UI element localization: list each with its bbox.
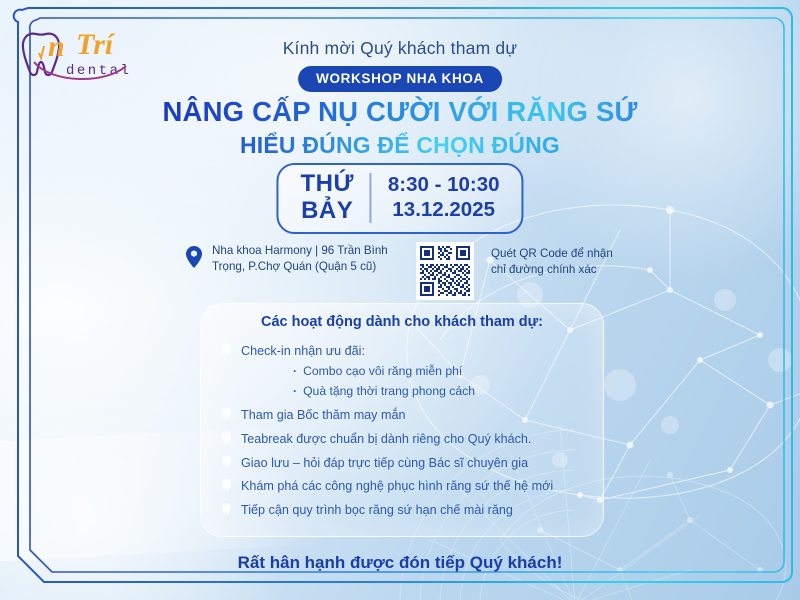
page-title: NÂNG CẤP NỤ CƯỜI VỚI RĂNG SỨ HIỂU ĐÚNG Đ…: [130, 96, 670, 160]
tooth-bullet-icon: [221, 408, 232, 421]
schedule-when: 8:30 - 10:30 13.12.2025: [388, 173, 500, 222]
list-item: Teabreak được chuẩn bị dành riêng cho Qu…: [217, 430, 593, 448]
list-item: Giao lưu – hỏi đáp trực tiếp cùng Bác sĩ…: [217, 454, 593, 472]
list-item-label: Tham gia Bốc thăm may mắn: [241, 408, 405, 422]
schedule-date: 13.12.2025: [388, 198, 500, 223]
qr-instruction: Quét QR Code để nhận chỉ đường chính xác: [491, 246, 616, 277]
list-item: Tham gia Bốc thăm may mắn: [217, 406, 593, 424]
list-item: Tiếp cận quy trình bọc răng sứ hạn chế m…: [217, 501, 593, 519]
list-item: Check-in nhận ưu đãi: Combo cạo vôi răng…: [217, 342, 593, 401]
tooth-bullet-icon: [221, 479, 232, 492]
activities-list: Check-in nhận ưu đãi: Combo cạo vôi răng…: [217, 342, 593, 525]
svg-text:dental: dental: [66, 63, 131, 79]
list-item-label: Teabreak được chuẩn bị dành riêng cho Qu…: [241, 432, 531, 446]
list-item-label: Check-in nhận ưu đãi:: [241, 344, 365, 358]
sub-list-item: Quà tặng thời trang phong cách: [241, 383, 593, 401]
list-item-label: Khám phá các công nghệ phục hình răng sứ…: [241, 479, 553, 493]
list-item-label: Giao lưu – hỏi đáp trực tiếp cùng Bác sĩ…: [241, 456, 528, 470]
workshop-badge: WORKSHOP NHA KHOA: [298, 66, 502, 92]
location-pin-icon: [186, 246, 202, 268]
svg-text:Trí: Trí: [76, 28, 116, 61]
logo-wordmark: n Trí dental: [34, 28, 131, 79]
activities-panel: Các hoạt động dành cho khách tham dự: Ch…: [200, 303, 604, 537]
venue-address: Nha khoa Harmony | 96 Trần Bình Trọng, P…: [212, 243, 407, 274]
schedule-day: THỨ BẢY: [300, 171, 353, 225]
schedule-day-line-1: THỨ: [300, 171, 353, 198]
schedule-time: 8:30 - 10:30: [388, 173, 500, 198]
qr-code-icon[interactable]: [417, 243, 473, 299]
schedule-box: THỨ BẢY 8:30 - 10:30 13.12.2025: [276, 163, 523, 234]
tooth-bullet-icon: [221, 503, 232, 516]
tooth-bullet-icon: [221, 344, 232, 357]
brand-logo: n Trí dental: [14, 22, 154, 84]
list-item: Khám phá các công nghệ phục hình răng sứ…: [217, 477, 593, 495]
closing-message: Rất hân hạnh được đón tiếp Quý khách!: [130, 553, 670, 573]
headline-line-2: HIỂU ĐÚNG ĐỂ CHỌN ĐÚNG: [130, 132, 670, 159]
poster-canvas: n Trí dental Kính mời Quý khách tham dự …: [0, 0, 800, 600]
venue-row: Nha khoa Harmony | 96 Trần Bình Trọng, P…: [186, 243, 616, 299]
invite-text: Kính mời Quý khách tham dự: [180, 38, 620, 59]
list-item-label: Tiếp cận quy trình bọc răng sứ hạn chế m…: [241, 503, 513, 517]
sub-list-item: Combo cạo vôi răng miễn phí: [241, 363, 593, 381]
schedule-divider: [370, 173, 372, 223]
schedule-day-line-2: BẢY: [300, 198, 353, 225]
tooth-bullet-icon: [221, 432, 232, 445]
activities-title: Các hoạt động dành cho khách tham dự:: [201, 314, 603, 330]
headline-line-1: NÂNG CẤP NỤ CƯỜI VỚI RĂNG SỨ: [130, 96, 670, 128]
sub-list: Combo cạo vôi răng miễn phí Quà tặng thờ…: [241, 363, 593, 400]
tooth-bullet-icon: [221, 456, 232, 469]
svg-text:n: n: [48, 30, 65, 63]
